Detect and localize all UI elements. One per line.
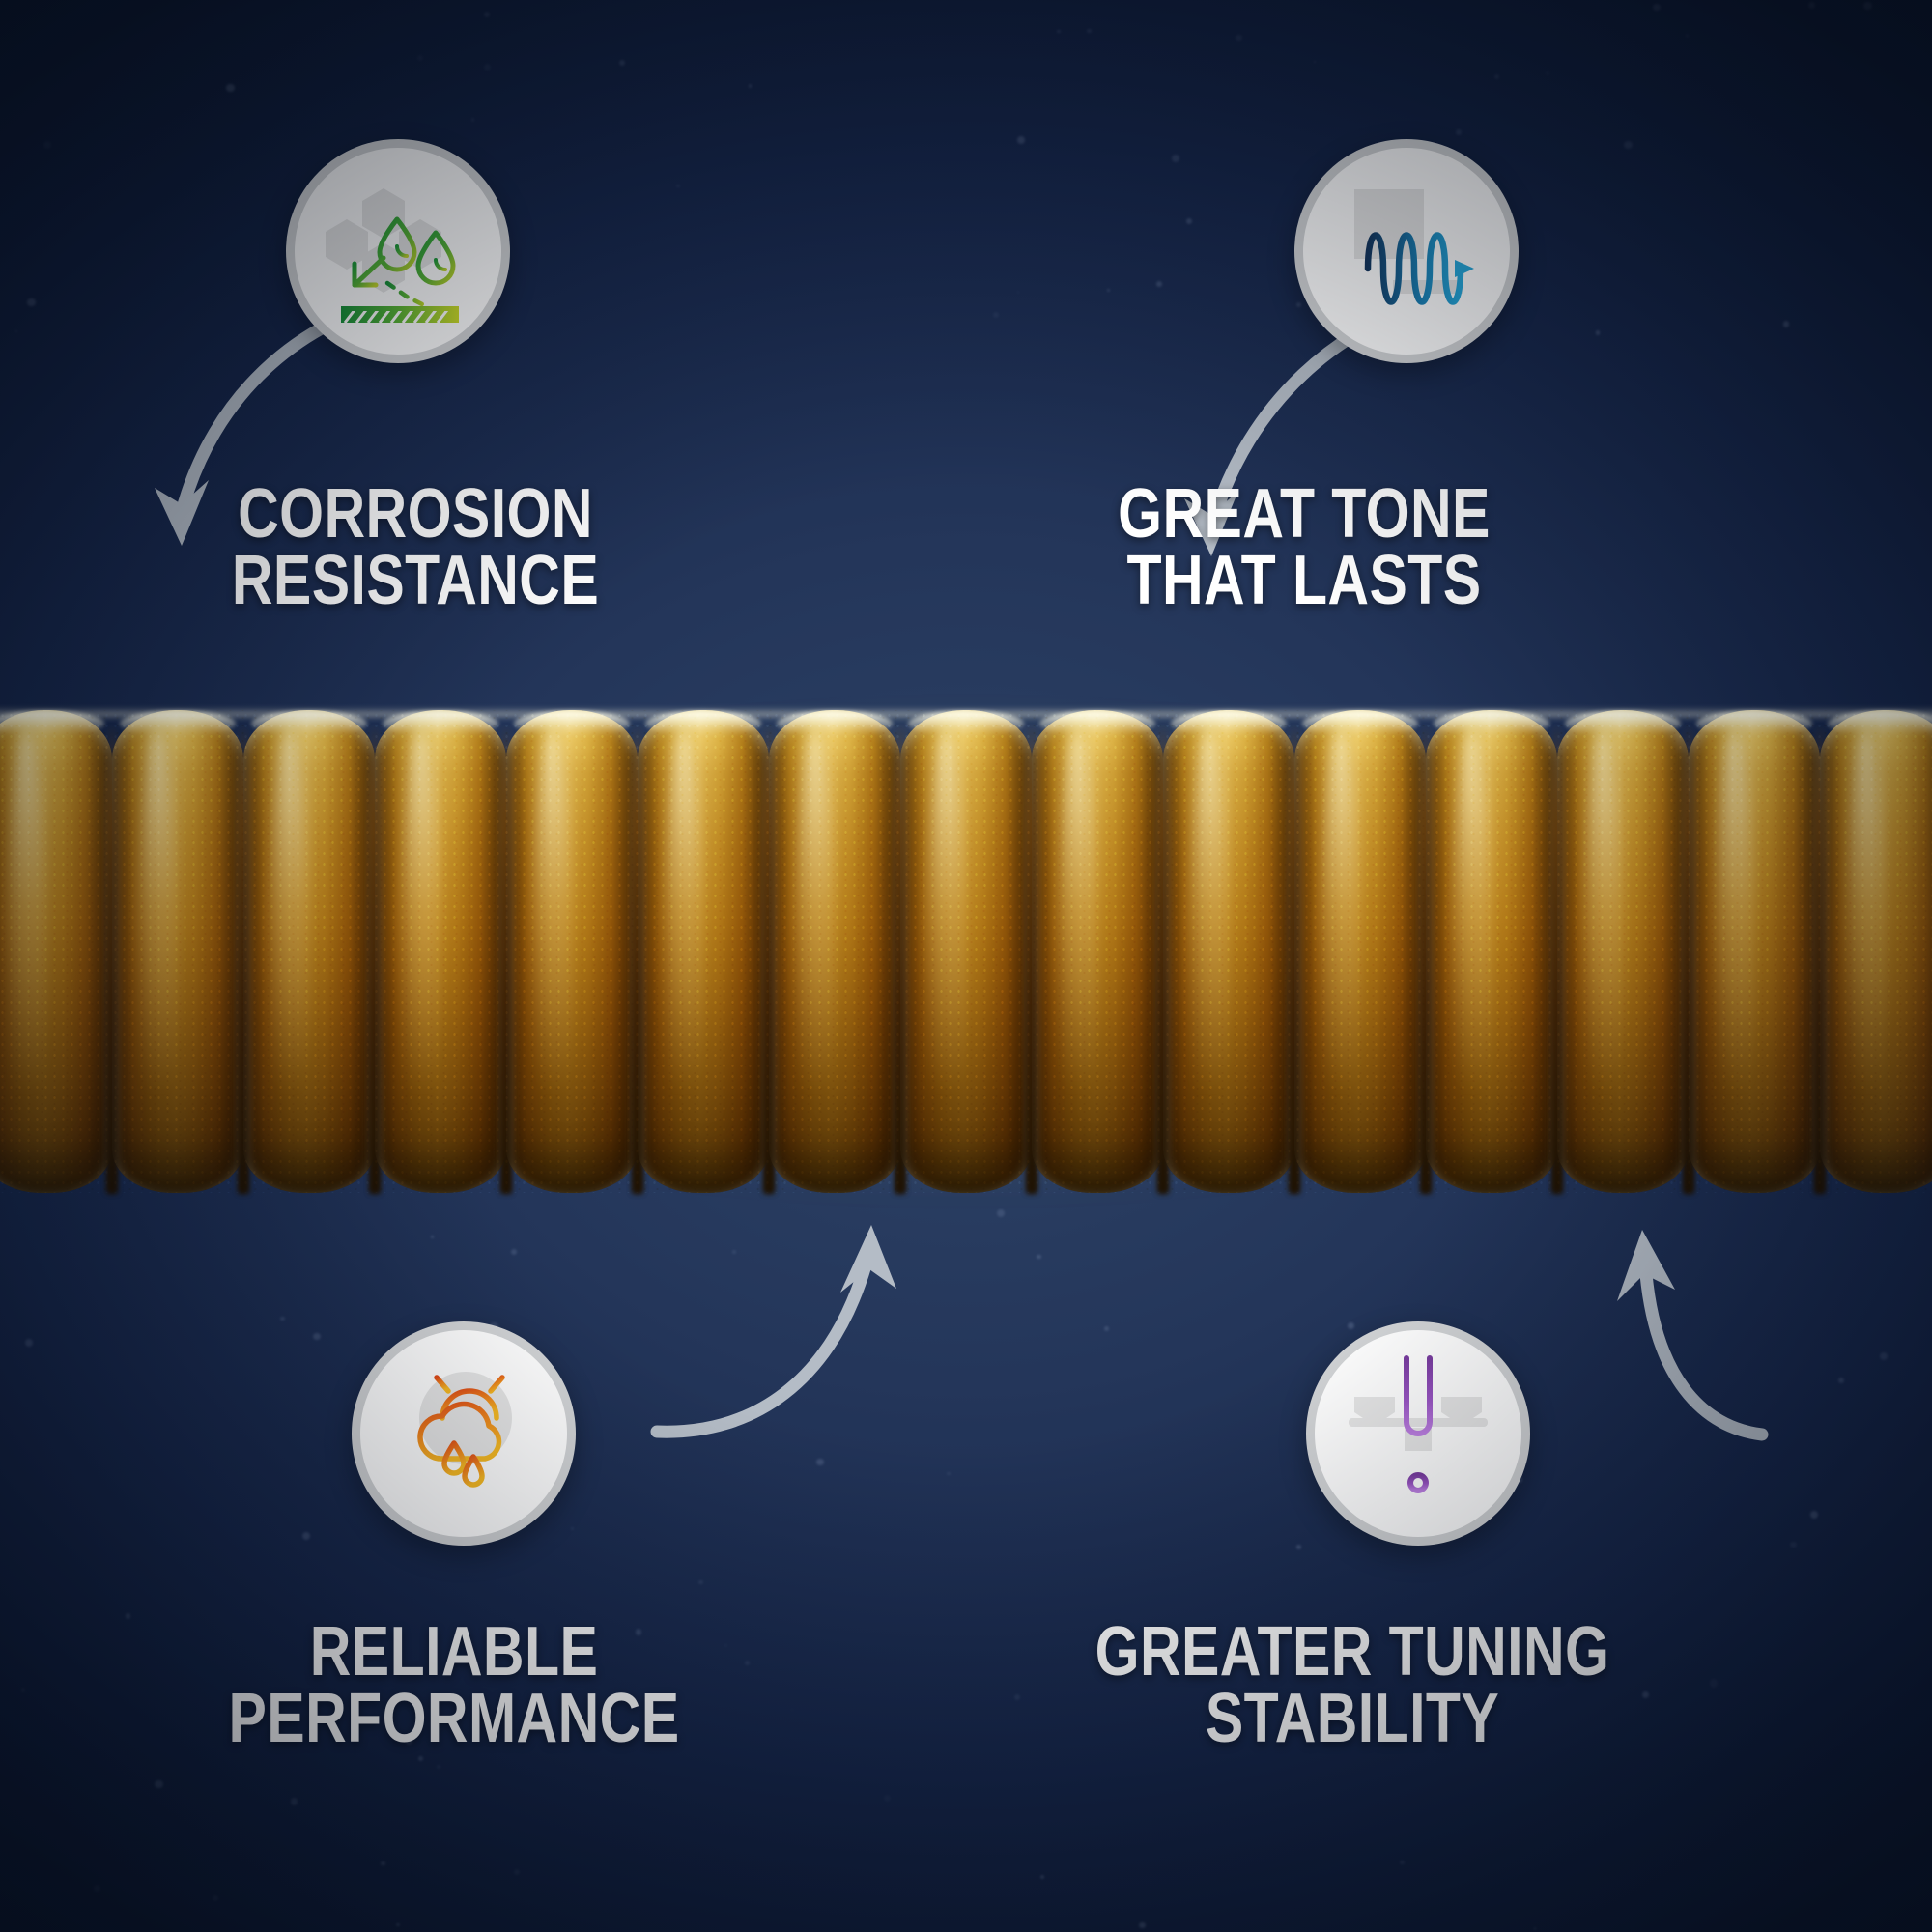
background-speck [1348,1322,1354,1329]
coil-groove [370,724,380,1193]
background-speck [1810,1511,1818,1519]
sound-wave-icon-circle[interactable] [1294,139,1519,363]
background-speck [291,1798,298,1804]
background-speck [484,12,490,17]
coil-winding [1689,710,1820,1193]
background-speck [1686,34,1690,38]
background-speck [997,1209,1005,1217]
background-speck [1139,1922,1145,1928]
weather-sun-cloud-rain-icon [381,1350,547,1517]
coil-winding [1294,710,1426,1193]
background-speck [417,55,423,61]
background-speck [381,1861,385,1866]
coil-groove [895,724,905,1193]
background-speck [418,1756,423,1761]
coil-row [0,710,1932,1193]
background-speck [1296,1545,1301,1549]
gold-coil-string [0,710,1932,1193]
corrosion-resistance-icon [316,169,480,333]
background-speck [1017,291,1019,293]
background-speck [1172,155,1179,162]
background-speck [676,185,679,187]
background-speck [1642,1691,1650,1699]
background-speck [619,60,625,66]
coil-winding [112,710,243,1193]
background-speck [1546,71,1549,75]
coil-groove [764,724,774,1193]
coil-winding [1032,710,1163,1193]
coil-winding [375,710,506,1193]
background-speck [1236,35,1242,42]
background-speck [511,1249,517,1255]
background-speck [947,1472,950,1475]
string-top-highlight [0,707,1932,717]
coil-winding [638,710,769,1193]
background-speck [1863,2,1871,10]
background-speck [993,312,999,318]
background-speck [126,1613,131,1619]
coating-surface [341,306,459,323]
background-speck [437,1765,440,1769]
coil-winding [1163,710,1294,1193]
weather-icon-circle[interactable] [352,1321,576,1546]
feature-label-tone: GREAT TONE THAT LASTS [1059,481,1549,614]
background-speck [514,1869,520,1875]
background-speck [15,330,17,332]
background-speck [302,1532,310,1540]
corrosion-resistance-icon-circle[interactable] [286,139,510,363]
coil-groove [1815,724,1825,1193]
background-speck [724,1644,727,1647]
coil-groove [1552,724,1562,1193]
background-speck [1710,1679,1719,1688]
coil-winding [900,710,1032,1193]
coil-winding [506,710,638,1193]
background-speck [1456,129,1462,135]
coil-groove [1684,724,1693,1193]
background-speck [732,1250,736,1254]
coil-winding [1557,710,1689,1193]
background-speck [1838,1378,1844,1383]
background-speck [431,1236,433,1237]
background-speck [1653,4,1661,12]
background-speck [226,84,234,92]
coil-groove [633,724,642,1193]
feature-label-tuning: GREATER TUNING STABILITY [1083,1619,1622,1752]
background-speck [816,1459,824,1466]
background-speck [1037,1255,1041,1260]
coil-winding [1820,710,1932,1193]
coil-groove [239,724,248,1193]
background-speck [25,1339,33,1347]
feature-label-corrosion: CORROSION RESISTANCE [193,481,637,614]
background-speck [1596,330,1601,335]
background-speck [155,1780,163,1789]
background-speck [484,64,491,71]
coil-groove [107,724,117,1193]
background-speck [1400,1861,1405,1865]
background-speck [280,1317,285,1321]
background-speck [1790,1542,1797,1548]
background-speck [1156,281,1162,287]
background-speck [27,298,35,306]
background-speck [1186,218,1192,224]
background-speck [1104,1326,1109,1331]
tuning-fork-icon-circle[interactable] [1306,1321,1530,1546]
background-speck [1624,141,1633,150]
background-speck [213,1895,218,1901]
background-speck [1494,74,1499,79]
background-speck [571,1527,574,1530]
coil-winding [1426,710,1557,1193]
background-speck [94,1885,100,1891]
arrow-to-string-bottom-left [638,1207,918,1459]
coil-groove [1158,724,1168,1193]
coil-groove [501,724,511,1193]
background-speck [43,141,51,149]
background-speck [396,1923,400,1927]
background-speck [1783,321,1790,327]
coil-winding [769,710,900,1193]
background-speck [745,1661,750,1665]
background-speck [1014,1694,1021,1701]
infographic-canvas: CORROSION RESISTANCE [0,0,1932,1932]
coil-winding [243,710,375,1193]
background-speck [1534,1927,1536,1929]
coil-winding [0,710,112,1193]
feature-label-reliable: RELIABLE PERFORMANCE [224,1619,684,1752]
background-speck [1808,2,1815,9]
background-speck [1017,136,1025,144]
coil-groove [1421,724,1431,1193]
background-speck [313,1333,321,1341]
background-speck [471,118,475,122]
background-speck [884,1795,892,1803]
background-speck [1296,302,1301,307]
background-speck [1040,1875,1044,1879]
background-speck [1314,61,1316,63]
background-speck [698,1580,703,1585]
background-speck [1057,30,1061,34]
coil-groove [1027,724,1037,1193]
coil-groove [1290,724,1299,1193]
tuning-fork-icon [1331,1347,1505,1520]
background-speck [749,84,752,87]
background-speck [21,1688,25,1691]
background-speck [791,1709,794,1712]
background-speck [1087,29,1091,33]
background-speck [1880,1352,1889,1361]
arrow-to-string-bottom-right [1555,1212,1787,1463]
sound-wave-icon [1323,168,1490,334]
background-speck [1107,289,1110,292]
